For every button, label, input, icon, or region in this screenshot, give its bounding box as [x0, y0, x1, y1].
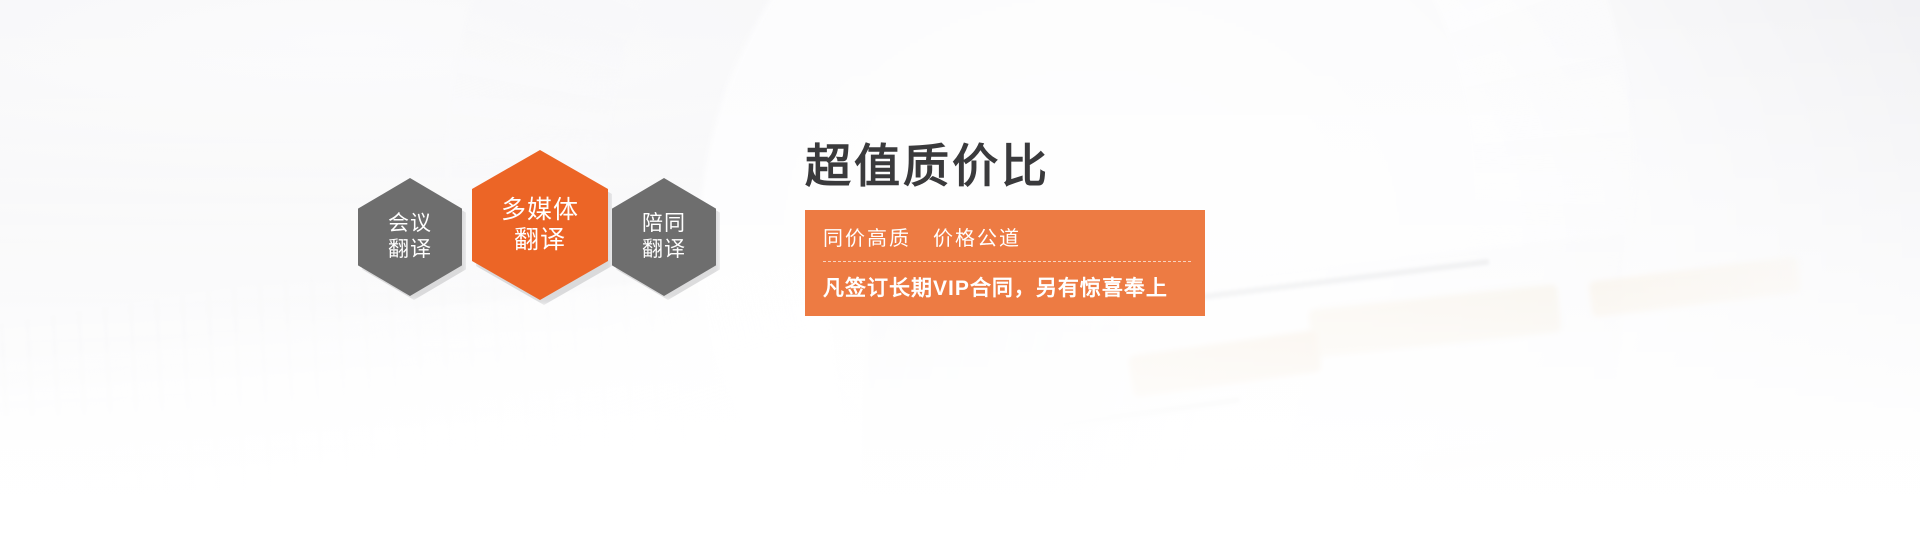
promo-box: 同价高质 价格公道 凡签订长期VIP合同，另有惊喜奉上 [805, 210, 1205, 316]
promo-banner: 会议 翻译 陪同 翻译 多媒体 翻译 超值质价比 同价高质 价格公道 凡签订长期… [0, 0, 1920, 535]
promo-line-quality-price: 同价高质 价格公道 [805, 222, 1205, 261]
hexagon-label-line2: 翻译 [514, 225, 566, 256]
hexagon-label-line2: 翻译 [642, 237, 686, 263]
banner-copy-block: 超值质价比 同价高质 价格公道 凡签订长期VIP合同，另有惊喜奉上 [805, 138, 1225, 316]
hexagon-label-line1: 陪同 [642, 211, 686, 237]
hexagon-label-line1: 会议 [388, 211, 432, 237]
banner-headline: 超值质价比 [805, 138, 1225, 196]
hexagon-label-line2: 翻译 [388, 237, 432, 263]
promo-divider [823, 261, 1191, 262]
service-hexagon-group: 会议 翻译 陪同 翻译 多媒体 翻译 [358, 150, 738, 300]
promo-line-vip-contract: 凡签订长期VIP合同，另有惊喜奉上 [805, 272, 1205, 302]
hexagon-label-line1: 多媒体 [501, 195, 579, 226]
